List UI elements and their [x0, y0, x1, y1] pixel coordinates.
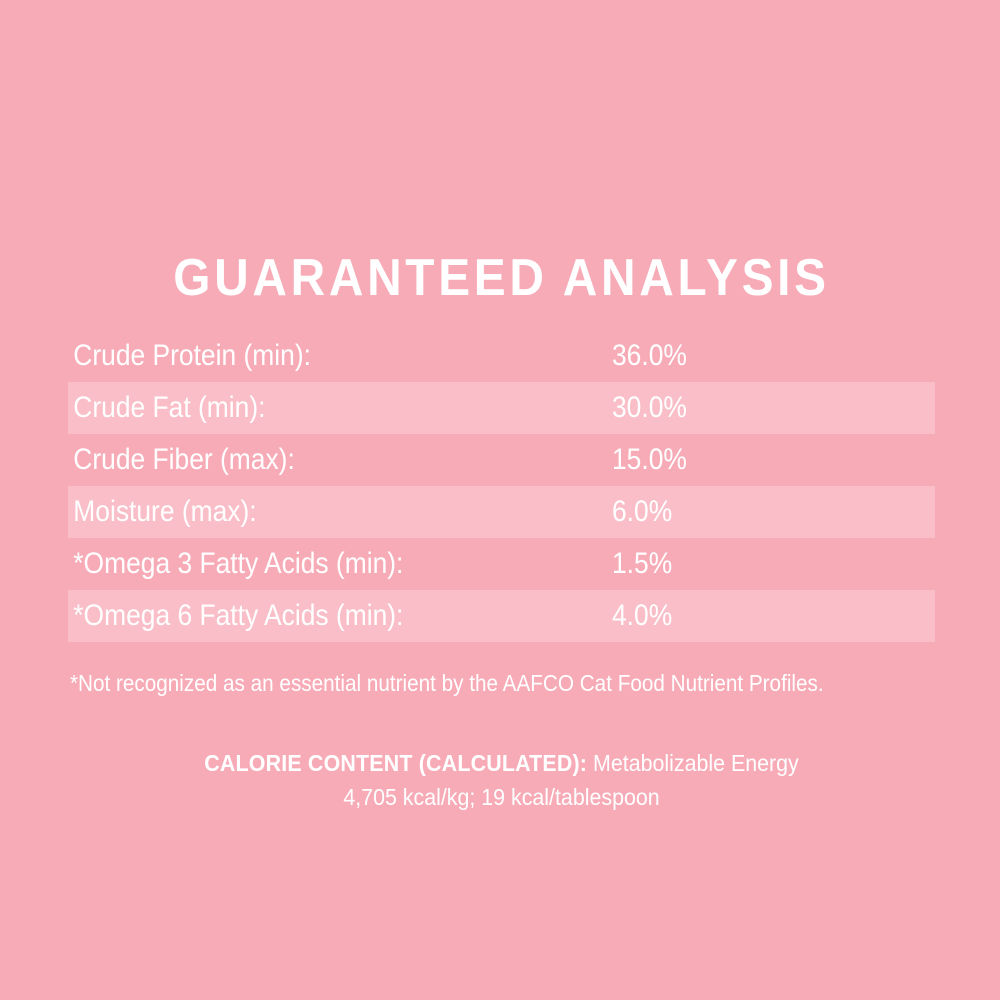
nutrient-value: 4.0%	[612, 599, 672, 633]
guaranteed-analysis-panel: GUARANTEED ANALYSIS Crude Protein (min):…	[0, 0, 1000, 1000]
table-row: *Omega 3 Fatty Acids (min): 1.5%	[68, 538, 935, 590]
nutrient-label: *Omega 6 Fatty Acids (min):	[68, 599, 614, 633]
calorie-heading: CALORIE CONTENT (CALCULATED):	[204, 750, 587, 776]
nutrient-label: Moisture (max):	[68, 495, 614, 529]
page-title: GUARANTEED ANALYSIS	[103, 248, 901, 308]
nutrient-label: Crude Fiber (max):	[68, 443, 614, 477]
nutrient-value: 30.0%	[612, 391, 687, 425]
nutrient-value: 6.0%	[612, 495, 672, 529]
table-row: Moisture (max): 6.0%	[68, 486, 935, 538]
table-row: *Omega 6 Fatty Acids (min): 4.0%	[68, 590, 935, 642]
calorie-content-block: CALORIE CONTENT (CALCULATED): Metaboliza…	[68, 748, 935, 813]
footnote-text: *Not recognized as an essential nutrient…	[70, 668, 862, 698]
calorie-heading-line: CALORIE CONTENT (CALCULATED): Metaboliza…	[98, 748, 904, 779]
calorie-detail: 4,705 kcal/kg; 19 kcal/tablespoon	[98, 782, 904, 813]
nutrient-label: Crude Protein (min):	[68, 339, 614, 373]
guaranteed-analysis-table: Crude Protein (min): 36.0% Crude Fat (mi…	[68, 330, 935, 642]
table-row: Crude Protein (min): 36.0%	[68, 330, 935, 382]
nutrient-label: Crude Fat (min):	[68, 391, 614, 425]
calorie-heading-suffix: Metabolizable Energy	[587, 750, 799, 776]
table-row: Crude Fat (min): 30.0%	[68, 382, 935, 434]
table-row: Crude Fiber (max): 15.0%	[68, 434, 935, 486]
nutrient-value: 36.0%	[612, 339, 687, 373]
nutrient-value: 15.0%	[612, 443, 687, 477]
nutrient-value: 1.5%	[612, 547, 672, 581]
nutrient-label: *Omega 3 Fatty Acids (min):	[68, 547, 614, 581]
